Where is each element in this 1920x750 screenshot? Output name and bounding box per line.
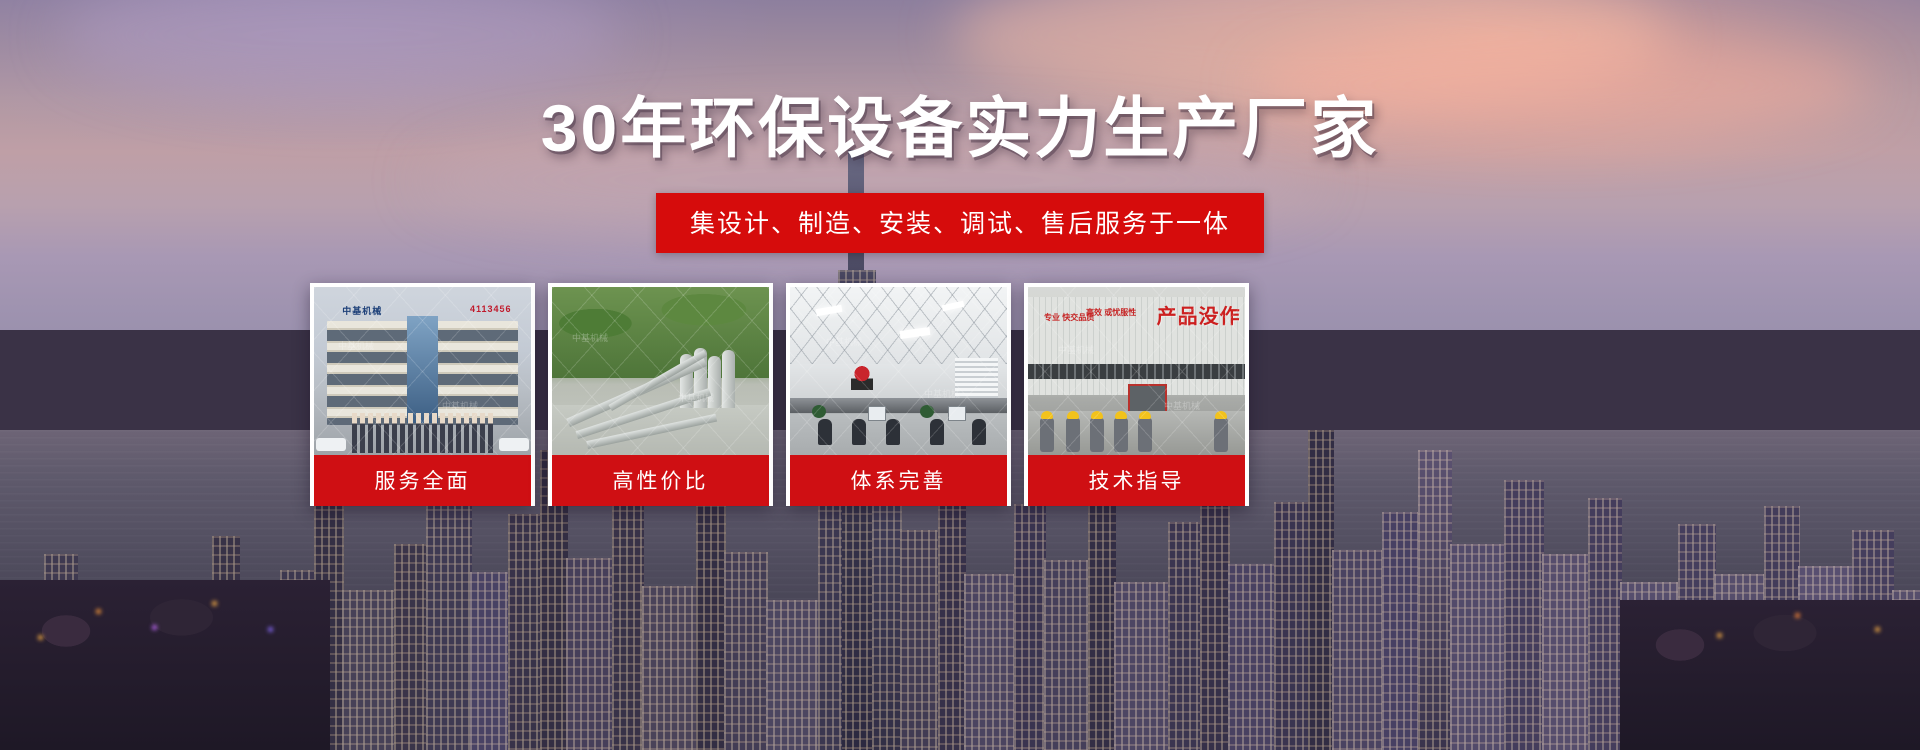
card-thumbnail-aerial-plant: 中基机械 中基机械 (552, 287, 769, 455)
left-riverbank-park (0, 580, 330, 750)
feature-card[interactable]: 中基机械 中基机械 体系完善 (786, 283, 1011, 506)
feature-card[interactable]: 中基机械 4113456 中基机械 中基机械 服务全面 (310, 283, 535, 506)
feature-card[interactable]: 中基机械 中基机械 高性价比 (548, 283, 773, 506)
card-thumbnail-factory-workshop: 产品没作 专业 快交品质 高效 或忧服性 中基机械 中基机械 (1028, 287, 1245, 455)
banner-headline: 30年环保设备实力生产厂家 (0, 95, 1920, 161)
bank-light-1 (38, 635, 43, 640)
card-caption: 技术指导 (1028, 455, 1245, 506)
card-thumbnail-office-building: 中基机械 4113456 中基机械 中基机械 (314, 287, 531, 455)
card-thumbnail-office-interior: 中基机械 中基机械 (790, 287, 1007, 455)
card-caption: 高性价比 (552, 455, 769, 506)
bank-light-2 (96, 609, 101, 614)
banner-subtitle-bar: 集设计、制造、安装、调试、售后服务于一体 (656, 193, 1264, 253)
bank-light-5 (268, 627, 273, 632)
right-riverbank-park (1620, 600, 1920, 750)
hero-banner: 30年环保设备实力生产厂家 集设计、制造、安装、调试、售后服务于一体 中基机械 … (0, 0, 1920, 750)
card-caption: 体系完善 (790, 455, 1007, 506)
bank-light-7 (1795, 613, 1800, 618)
factory-wall-big-text: 产品没作 (1157, 300, 1241, 329)
factory-wall-small-text-2: 高效 或忧服性 (1086, 309, 1136, 318)
bank-light-6 (1875, 627, 1880, 632)
building-sign-text: 中基机械 (342, 304, 382, 317)
feature-card[interactable]: 产品没作 专业 快交品质 高效 或忧服性 中基机械 中基机械 技术指导 (1024, 283, 1249, 506)
building-phone-text: 4113456 (470, 304, 512, 314)
card-caption: 服务全面 (314, 455, 531, 506)
bank-light-4 (212, 601, 217, 606)
bank-light-8 (1717, 633, 1722, 638)
bank-light-3 (152, 625, 157, 630)
feature-card-strip: 中基机械 4113456 中基机械 中基机械 服务全面 (310, 283, 1249, 506)
watermark-text: 中基机械 (1164, 399, 1200, 412)
